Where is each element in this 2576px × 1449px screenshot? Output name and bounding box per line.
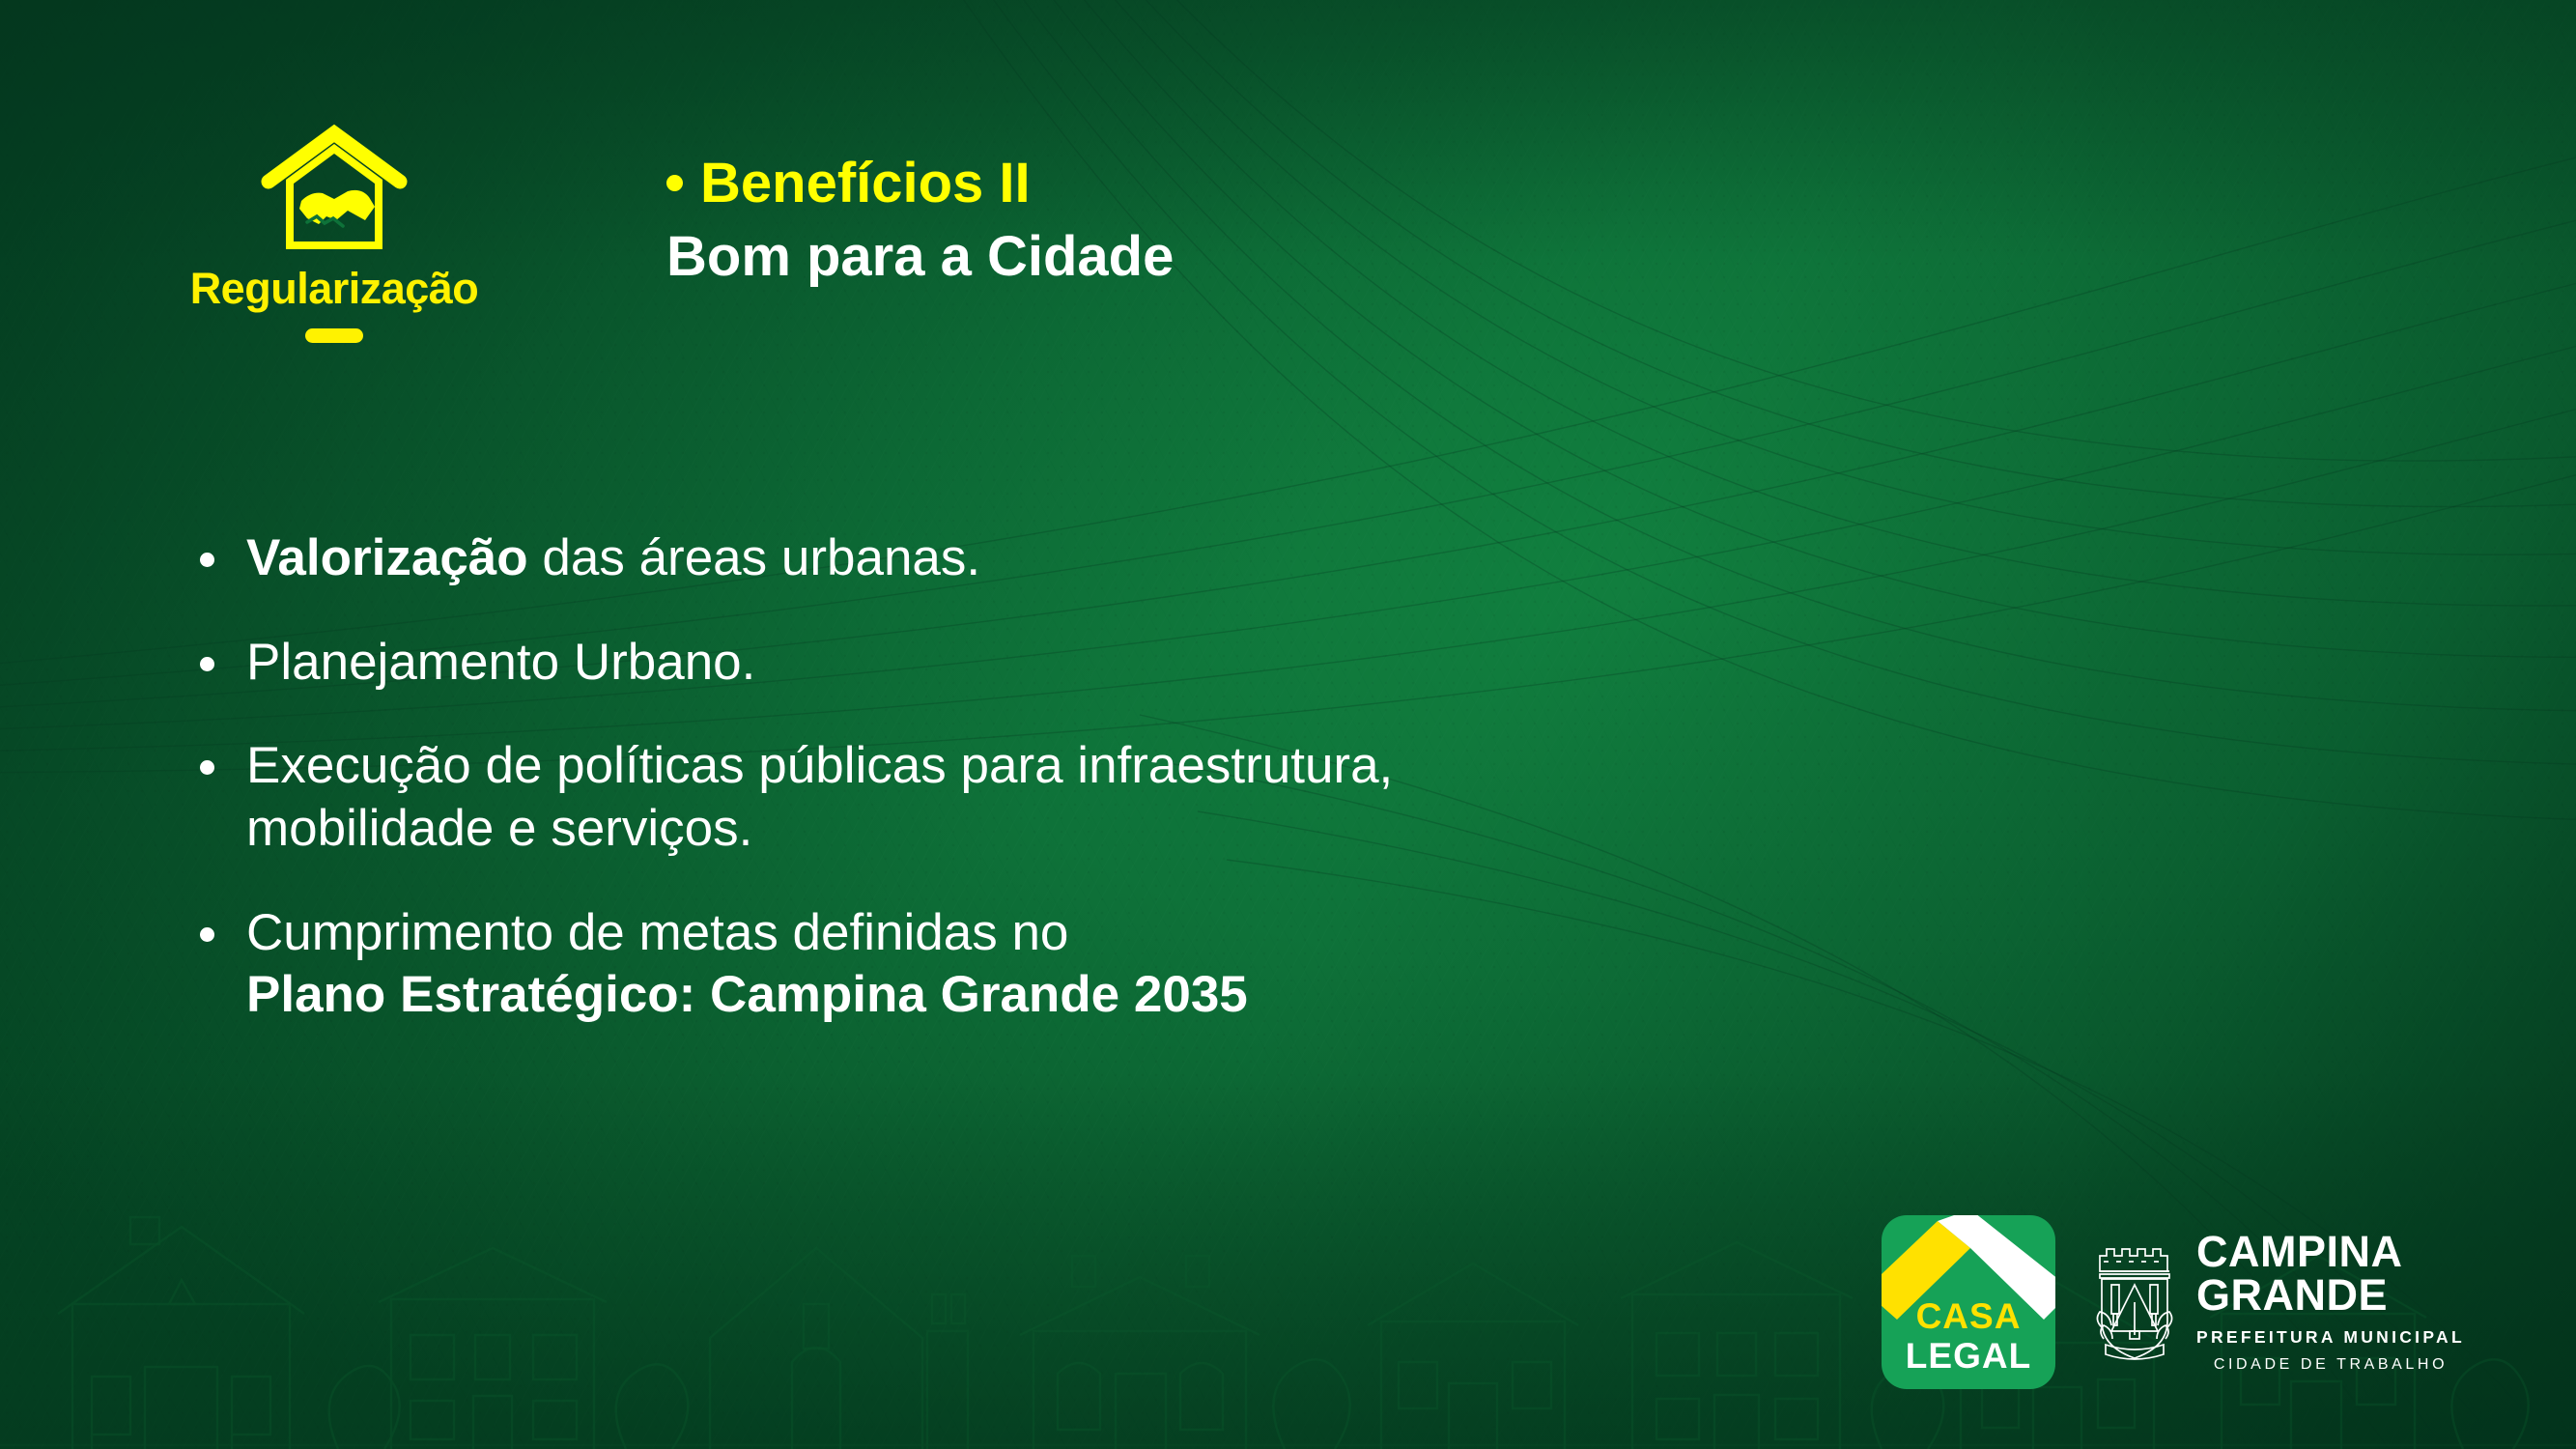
campina-grande-logo: CAMPINA GRANDE PREFEITURA MUNICIPAL CIDA… <box>2090 1231 2465 1373</box>
bullet-dot-icon <box>200 553 214 567</box>
list-item-text: Valorização <box>246 529 542 586</box>
slide-headline: Benefícios II Bom para a Cidade <box>666 150 1174 290</box>
campina-grande-name-line2: GRANDE <box>2196 1274 2465 1317</box>
page-title: Bom para a Cidade <box>666 223 1174 291</box>
list-item-text: Planejamento Urbano. <box>246 634 755 691</box>
casa-legal-line1: CASA <box>1882 1298 2055 1335</box>
list-item: Cumprimento de metas definidas no Plano … <box>193 902 2028 1027</box>
list-item-text: Execução de políticas públicas para infr… <box>246 737 1393 794</box>
footer-logo-group: CASA LEGAL <box>1882 1215 2465 1389</box>
brand-wordmark: Regularização <box>189 267 479 310</box>
casa-legal-line2: LEGAL <box>1882 1338 2055 1375</box>
list-item: Planejamento Urbano. <box>193 632 2028 695</box>
list-item: Valorização das áreas urbanas. <box>193 527 2028 590</box>
bullet-dot-icon <box>200 657 214 671</box>
campina-grande-text-block: CAMPINA GRANDE PREFEITURA MUNICIPAL CIDA… <box>2196 1231 2465 1373</box>
list-item-text: das áreas urbanas. <box>542 529 980 586</box>
campina-grande-subtitle: PREFEITURA MUNICIPAL <box>2196 1327 2465 1348</box>
headline-eyebrow-text: Benefícios II <box>700 152 1031 214</box>
list-item: Execução de políticas públicas para infr… <box>193 735 2028 860</box>
campina-grande-name-line1: CAMPINA <box>2196 1231 2465 1273</box>
list-item-text: Plano Estratégico: Campina Grande 2035 <box>246 966 1248 1023</box>
casa-legal-logo: CASA LEGAL <box>1882 1215 2055 1389</box>
headline-eyebrow: Benefícios II <box>666 150 1174 217</box>
bullet-dot-icon <box>200 760 214 775</box>
house-handshake-icon <box>247 122 421 257</box>
list-item-text: Cumprimento de metas definidas no <box>246 904 1068 961</box>
list-item-text: mobilidade e serviços. <box>246 800 752 857</box>
bullet-dot-icon <box>200 927 214 942</box>
presentation-slide: Regularização Benefícios II Bom para a C… <box>0 0 2576 1449</box>
bullet-dot-icon <box>666 175 683 191</box>
campina-grande-tagline: CIDADE DE TRABALHO <box>2196 1356 2465 1374</box>
yellow-dash-divider <box>305 328 363 343</box>
regularizacao-brand-lockup: Regularização <box>189 122 479 343</box>
benefits-bullet-list: Valorização das áreas urbanas. Planejame… <box>193 527 2028 1027</box>
campina-grande-coat-of-arms <box>2090 1242 2179 1362</box>
